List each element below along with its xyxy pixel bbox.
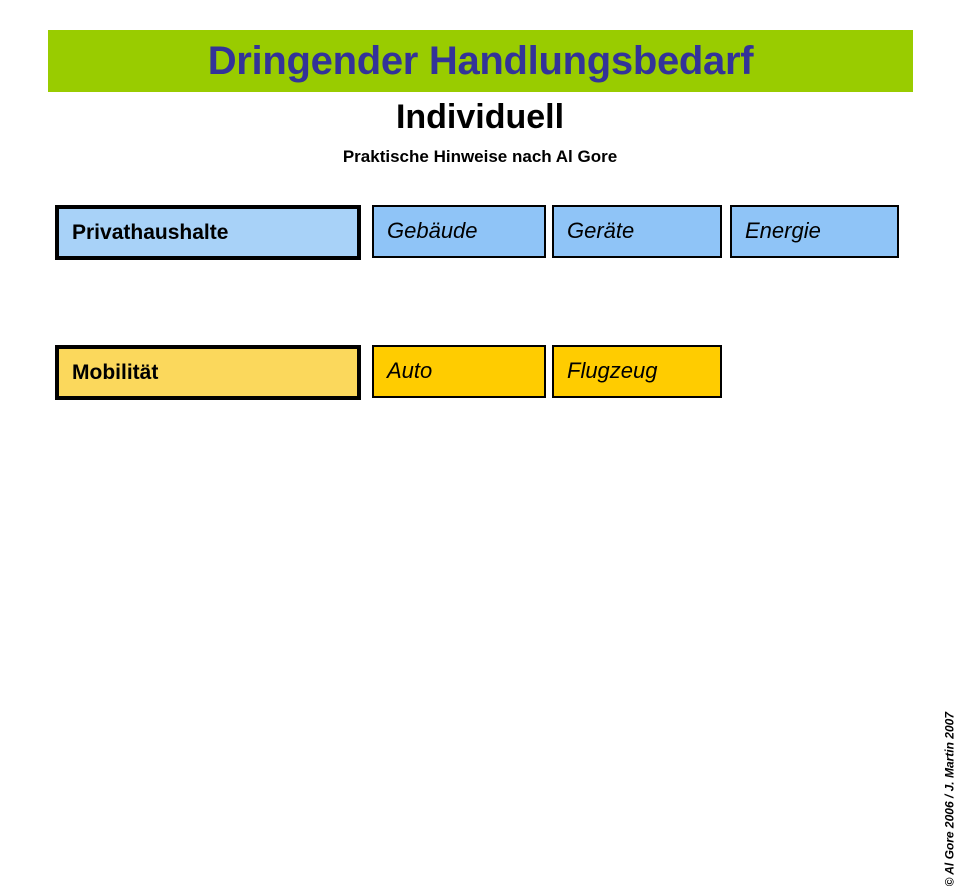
item-label: Gebäude	[374, 219, 478, 243]
copyright-notice: © Al Gore 2006 / J. Martin 2007	[942, 712, 956, 886]
item-box-gebaeude[interactable]: Gebäude	[372, 205, 546, 258]
item-label: Geräte	[554, 219, 634, 243]
item-label: Energie	[732, 219, 821, 243]
item-box-geraete[interactable]: Geräte	[552, 205, 722, 258]
item-label: Flugzeug	[554, 359, 658, 383]
category-box-privathaushalte[interactable]: Privathaushalte	[55, 205, 361, 260]
item-box-energie[interactable]: Energie	[730, 205, 899, 258]
item-box-flugzeug[interactable]: Flugzeug	[552, 345, 722, 398]
page-title: Dringender Handlungsbedarf	[208, 41, 754, 81]
item-box-auto[interactable]: Auto	[372, 345, 546, 398]
title-banner: Dringender Handlungsbedarf	[48, 30, 913, 92]
category-label: Privathaushalte	[59, 221, 228, 244]
subject-heading: Individuell	[0, 99, 960, 136]
item-label: Auto	[374, 359, 432, 383]
note-heading: Praktische Hinweise nach Al Gore	[0, 148, 960, 167]
category-box-mobilitaet[interactable]: Mobilität	[55, 345, 361, 400]
category-label: Mobilität	[59, 361, 158, 384]
